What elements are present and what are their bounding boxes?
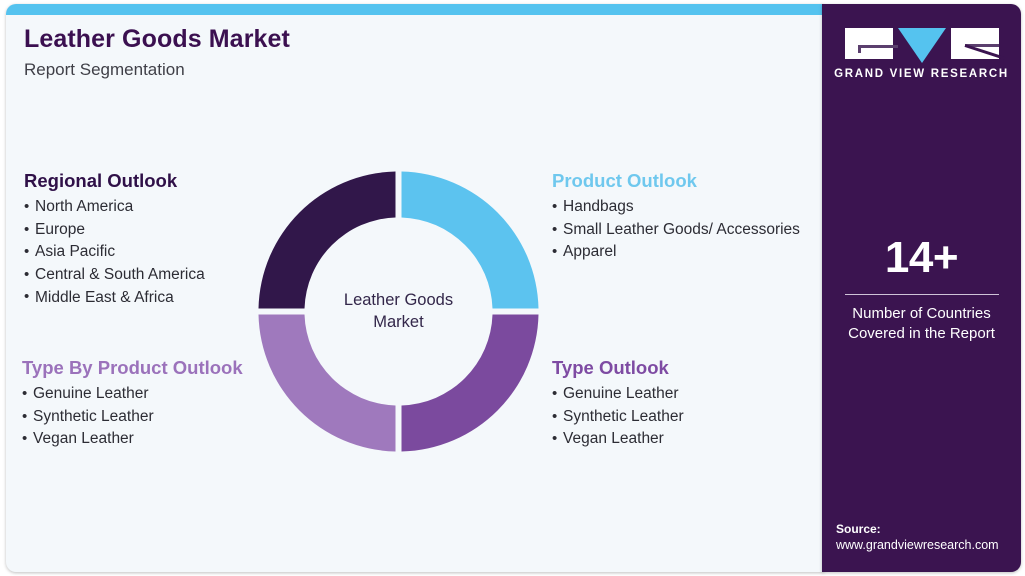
list-item: Handbags	[552, 196, 814, 219]
list-item: Genuine Leather	[552, 383, 822, 406]
donut-svg	[258, 171, 539, 452]
segmentation-donut-chart: Leather Goods Market	[258, 171, 539, 452]
source-label: Source:	[836, 521, 1021, 537]
donut-slice-type	[402, 315, 539, 452]
list-item: Central & South America	[24, 264, 294, 287]
stat-caption-line-2: Covered in the Report	[822, 324, 1021, 344]
list-item: North America	[24, 196, 294, 219]
product-outlook-section: Product Outlook Handbags Small Leather G…	[552, 170, 814, 264]
logo-letter-g-icon	[845, 28, 893, 59]
list-item: Middle East & Africa	[24, 287, 294, 310]
donut-slice-product	[402, 172, 539, 309]
list-item: Asia Pacific	[24, 241, 294, 264]
regional-outlook-list: North America Europe Asia Pacific Centra…	[24, 196, 294, 309]
logo-glyphs	[822, 28, 1021, 59]
list-item: Synthetic Leather	[22, 406, 292, 429]
list-item: Small Leather Goods/ Accessories	[552, 219, 814, 242]
list-item: Vegan Leather	[22, 428, 292, 451]
countries-stat-block: 14+ Number of Countries Covered in the R…	[822, 236, 1021, 344]
type-by-product-outlook-heading: Type By Product Outlook	[22, 357, 292, 379]
type-outlook-section: Type Outlook Genuine Leather Synthetic L…	[552, 357, 822, 451]
stat-value: 14+	[822, 236, 1021, 280]
infographic-root: Leather Goods Market Report Segmentation…	[0, 0, 1025, 576]
brand-name: GRAND VIEW RESEARCH	[822, 68, 1021, 80]
logo-letter-v-triangle-icon	[898, 28, 946, 63]
top-accent-bar	[6, 4, 824, 15]
page-subtitle: Report Segmentation	[24, 61, 724, 80]
list-item: Genuine Leather	[22, 383, 292, 406]
regional-outlook-heading: Regional Outlook	[24, 170, 294, 192]
source-url[interactable]: www.grandviewresearch.com	[836, 537, 1021, 554]
type-outlook-heading: Type Outlook	[552, 357, 822, 379]
regional-outlook-section: Regional Outlook North America Europe As…	[24, 170, 294, 309]
title-block: Leather Goods Market Report Segmentation	[24, 26, 724, 79]
type-by-product-outlook-list: Genuine Leather Synthetic Leather Vegan …	[22, 383, 292, 451]
product-outlook-list: Handbags Small Leather Goods/ Accessorie…	[552, 196, 814, 264]
list-item: Europe	[24, 219, 294, 242]
type-outlook-list: Genuine Leather Synthetic Leather Vegan …	[552, 383, 822, 451]
stat-caption-line-1: Number of Countries	[822, 304, 1021, 324]
logo-letter-r-icon	[951, 28, 999, 59]
list-item: Vegan Leather	[552, 428, 822, 451]
brand-logo: GRAND VIEW RESEARCH	[822, 28, 1021, 80]
source-block: Source: www.grandviewresearch.com	[836, 521, 1021, 554]
product-outlook-heading: Product Outlook	[552, 170, 814, 192]
sidebar-panel: GRAND VIEW RESEARCH 14+ Number of Countr…	[822, 4, 1021, 572]
stat-caption: Number of Countries Covered in the Repor…	[822, 304, 1021, 344]
stat-divider	[845, 294, 999, 295]
list-item: Synthetic Leather	[552, 406, 822, 429]
list-item: Apparel	[552, 241, 814, 264]
type-by-product-outlook-section: Type By Product Outlook Genuine Leather …	[22, 357, 292, 451]
page-title: Leather Goods Market	[24, 26, 724, 54]
